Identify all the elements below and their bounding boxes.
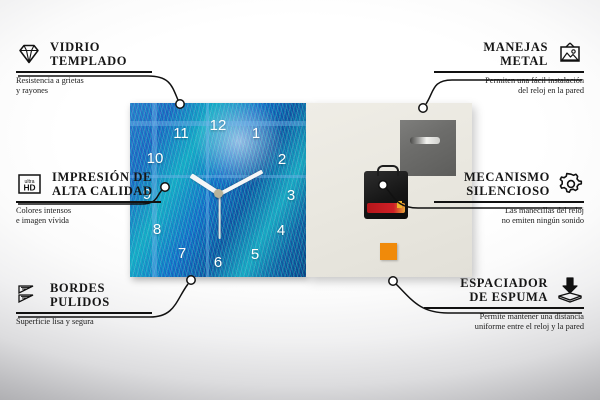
- svg-text:HD: HD: [23, 183, 35, 193]
- callout-desc-line1: Las manecillas del reloj: [434, 206, 584, 217]
- callout-rule: [16, 71, 152, 73]
- infographic-canvas: 12 1 2 3 4 5 6 7 8 9 10 11: [0, 0, 600, 400]
- callout-title-line2: DE ESPUMA: [460, 290, 548, 304]
- callout-header: ultra HD IMPRESIÓN DE ALTA CALIDAD: [16, 170, 176, 198]
- quartz-movement: [364, 171, 408, 219]
- callout-title-line1: IMPRESIÓN DE: [52, 170, 153, 184]
- callout-desc-line1: Permite mantener una distancia: [424, 312, 584, 323]
- callout-title-line1: VIDRIO: [50, 40, 127, 54]
- callout-title-line1: MECANISMO: [464, 170, 550, 184]
- callout-desc-line1: Superficie lisa y segura: [16, 317, 166, 328]
- clock-center-cap: [214, 189, 223, 198]
- callout-desc-line2: y rayones: [16, 86, 166, 97]
- hanging-frame-icon: [556, 42, 584, 66]
- callout-rule: [16, 312, 152, 314]
- movement-hanging-lug: [377, 165, 399, 176]
- clock-minute-hand: [219, 170, 263, 196]
- clock-numeral-11: 11: [172, 125, 190, 143]
- callout-header: BORDES PULIDOS: [16, 281, 166, 309]
- diamond-icon: [16, 43, 42, 65]
- callout-title-line2: PULIDOS: [50, 295, 110, 309]
- callout-rule: [434, 71, 584, 73]
- callout-desc-line2: no emiten ningún sonido: [434, 216, 584, 227]
- callout-foam-spacer: ESPACIADOR DE ESPUMA Permite mantener un…: [424, 276, 584, 333]
- clock-numeral-2: 2: [273, 151, 291, 169]
- clock-numeral-6: 6: [209, 254, 227, 272]
- callout-rule: [434, 201, 584, 203]
- metal-hanger-plate: [400, 120, 456, 176]
- callout-title-line1: BORDES: [50, 281, 110, 295]
- clock-numeral-10: 10: [146, 150, 164, 168]
- clock-numeral-5: 5: [246, 246, 264, 264]
- arrow-down-pad-icon: [556, 277, 584, 303]
- clock-numeral-4: 4: [272, 222, 290, 240]
- clock-numeral-3: 3: [282, 187, 300, 205]
- callout-header: MANEJAS METAL: [434, 40, 584, 68]
- ultra-hd-icon: ultra HD: [16, 172, 44, 196]
- gear-icon: [558, 172, 584, 196]
- callout-header: ESPACIADOR DE ESPUMA: [424, 276, 584, 304]
- clock-numeral-12: 12: [209, 117, 227, 135]
- hanger-slot: [410, 137, 440, 144]
- callout-polished-edges: BORDES PULIDOS Superficie lisa y segura: [16, 281, 166, 327]
- callout-desc-line2: del reloj en la pared: [434, 86, 584, 97]
- callout-title-line1: ESPACIADOR: [460, 276, 548, 290]
- leader-endpoint-polished-edges: [187, 276, 195, 284]
- callout-desc-line1: Colores intensos: [16, 206, 176, 217]
- callout-title-line2: METAL: [483, 54, 548, 68]
- callout-desc-line2: e imagen vívida: [16, 216, 176, 227]
- callout-rule: [16, 201, 161, 203]
- foam-spacer-pad: [380, 243, 397, 260]
- callout-desc-line1: Permiten una fácil instalación: [434, 76, 584, 87]
- callout-hd-print: ultra HD IMPRESIÓN DE ALTA CALIDAD Color…: [16, 170, 176, 227]
- callout-title-line1: MANEJAS: [483, 40, 548, 54]
- clock-numeral-7: 7: [173, 245, 191, 263]
- clock-numeral-1: 1: [247, 125, 265, 143]
- clock-second-hand: [219, 194, 221, 239]
- callout-silent-mechanism: MECANISMO SILENCIOSO Las manecillas del …: [434, 170, 584, 227]
- diagonal-lines-icon: [16, 284, 42, 306]
- battery-contact: [397, 201, 402, 208]
- callout-desc-line2: uniforme entre el reloj y la pared: [424, 322, 584, 333]
- callout-title-line2: SILENCIOSO: [464, 184, 550, 198]
- callout-desc-line1: Resistencia a grietas: [16, 76, 166, 87]
- callout-title-line2: ALTA CALIDAD: [52, 184, 153, 198]
- callout-title-line2: TEMPLADO: [50, 54, 127, 68]
- callout-header: VIDRIO TEMPLADO: [16, 40, 166, 68]
- callout-tempered-glass: VIDRIO TEMPLADO Resistencia a grietas y …: [16, 40, 166, 97]
- callout-metal-handles: MANEJAS METAL Permiten una fácil instala…: [434, 40, 584, 97]
- callout-header: MECANISMO SILENCIOSO: [434, 170, 584, 198]
- leader-endpoint-foam-spacer: [389, 277, 397, 285]
- callout-rule: [424, 307, 584, 309]
